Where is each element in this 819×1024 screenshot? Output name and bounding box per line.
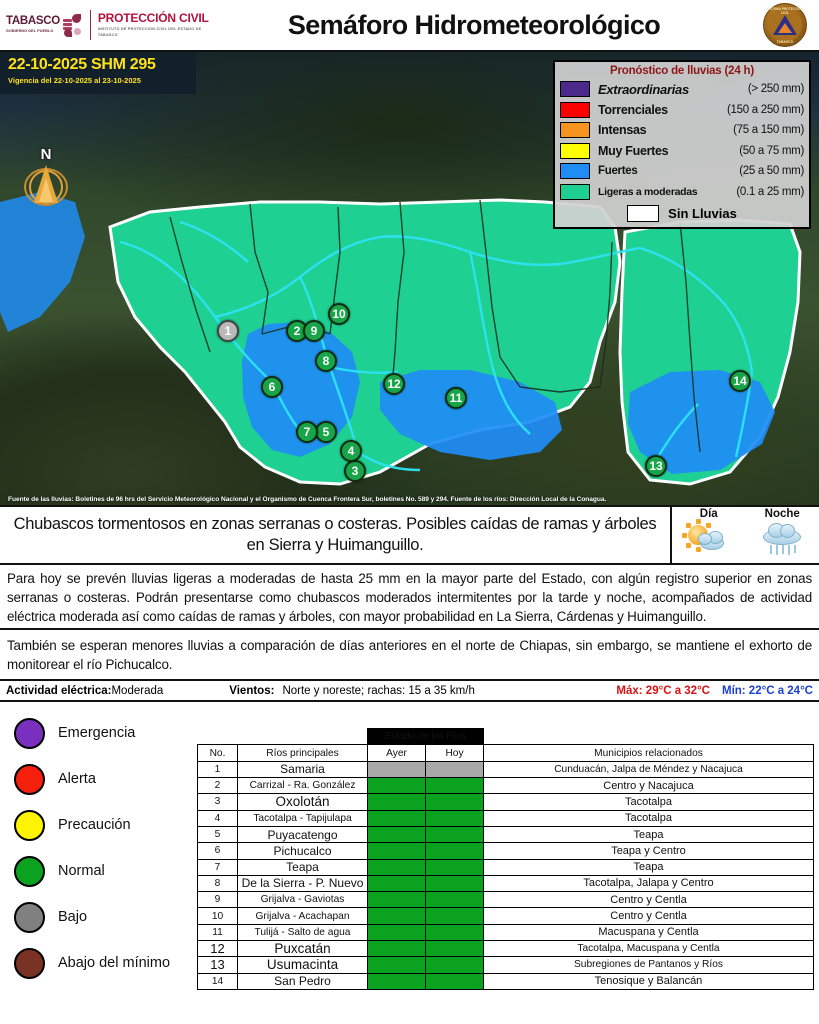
status-legend-item-3: Precaución: [14, 802, 196, 848]
col-header-ayer: Ayer: [368, 745, 426, 761]
map-marker-1[interactable]: 1: [217, 320, 239, 342]
day-label: Día: [700, 508, 718, 520]
cell-status-ayer: [368, 875, 426, 891]
status-dot-5: [14, 902, 45, 933]
night-label: Noche: [765, 508, 800, 520]
cell-status-hoy: [426, 973, 484, 989]
legend-label-4: Muy Fuertes: [590, 144, 712, 158]
cell-status-ayer: [368, 794, 426, 810]
proteccion-civil-logo: PROTECCIÓN CIVIL INSTITUTO DE PROTECCIÓN…: [98, 12, 215, 38]
bulletin-validity: Vigencia del 22-10-2025 al 23-10-2025: [8, 76, 188, 85]
tabasco-wordmark: TABASCO: [6, 16, 60, 28]
day-night-icons: Día Noche: [672, 507, 819, 563]
cell-rio: Grijalva - Acachapan: [238, 908, 368, 924]
cell-municipios: Tacotalpa: [484, 794, 814, 810]
cell-no: 4: [198, 810, 238, 826]
shield-bottom-text: TABASCO: [763, 40, 807, 44]
cell-municipios: Subregiones de Pantanos y Ríos: [484, 957, 814, 973]
legend-row-6: Ligeras a moderadas(0.1 a 25 mm): [560, 182, 804, 203]
status-legend-item-2: Alerta: [14, 756, 196, 802]
spacer-cell-rio: [238, 729, 368, 745]
map-marker-9[interactable]: 9: [303, 320, 325, 342]
status-legend-item-6: Abajo del mínimo: [14, 940, 196, 986]
cell-no: 14: [198, 973, 238, 989]
legend-swatch-1: [560, 81, 590, 97]
legend-swatch-4: [560, 143, 590, 159]
cell-no: 2: [198, 778, 238, 794]
cell-status-ayer: [368, 810, 426, 826]
legend-swatch-5: [560, 163, 590, 179]
legend-row-3: Intensas(75 a 150 mm): [560, 120, 804, 141]
cell-municipios: Tacotalpa: [484, 810, 814, 826]
cell-status-ayer: [368, 859, 426, 875]
bulletin-date: 22-10-2025 SHM 295: [8, 56, 188, 74]
page-header: TABASCO GOBIERNO DEL PUEBLO PROTECCIÓN C…: [0, 0, 819, 52]
proteccion-civil-shield-icon: SISTEMA PROTECCIÓN CIVIL TABASCO: [763, 3, 807, 47]
cell-rio: Pichucalco: [238, 843, 368, 859]
page-title: Semáforo Hidrometeorológico: [215, 10, 763, 41]
table-row: 4Tacotalpa - TapijulapaTacotalpa: [198, 810, 814, 826]
table-row: 6PichucalcoTeapa y Centro: [198, 843, 814, 859]
map-marker-12[interactable]: 12: [383, 373, 405, 395]
legend-swatch-no-rain: [627, 205, 659, 222]
cell-status-ayer: [368, 843, 426, 859]
brand-logos: TABASCO GOBIERNO DEL PUEBLO PROTECCIÓN C…: [0, 2, 215, 48]
map-marker-13[interactable]: 13: [645, 455, 667, 477]
cell-no: 8: [198, 875, 238, 891]
col-header-mun: Municipios relacionados: [484, 745, 814, 761]
cell-status-hoy: [426, 941, 484, 957]
forecast-paragraph-2-box: También se esperan menores lluvias a com…: [0, 630, 819, 681]
map-source-note: Fuente de las lluvias: Boletines de 96 h…: [0, 494, 819, 505]
cell-municipios: Centro y Centla: [484, 908, 814, 924]
tabasco-emblem-icon: [63, 14, 83, 36]
cell-rio: Oxolotán: [238, 794, 368, 810]
bottom-section: EmergenciaAlertaPrecauciónNormalBajoAbaj…: [0, 702, 819, 978]
table-row: 1SamariaCunduacán, Jalpa de Méndez y Nac…: [198, 761, 814, 777]
cell-municipios: Tenosique y Balancán: [484, 973, 814, 989]
status-legend-item-4: Normal: [14, 848, 196, 894]
cloud-rain-icon: [759, 521, 805, 555]
cell-status-hoy: [426, 859, 484, 875]
rainfall-legend: Pronóstico de lluvias (24 h) Extraordina…: [553, 60, 811, 229]
map-date-banner: 22-10-2025 SHM 295 Vigencia del 22-10-20…: [0, 52, 196, 94]
map-marker-10[interactable]: 10: [328, 303, 350, 325]
status-dot-1: [14, 718, 45, 749]
table-row: 5PuyacatengoTeapa: [198, 826, 814, 842]
cell-rio: San Pedro: [238, 973, 368, 989]
map-marker-6[interactable]: 6: [261, 376, 283, 398]
cell-rio: Puyacatengo: [238, 826, 368, 842]
electric-activity-value: Moderada: [111, 685, 163, 697]
map-marker-7[interactable]: 7: [296, 421, 318, 443]
legend-swatch-6: [560, 184, 590, 200]
legend-no-rain-row: Sin Lluvias: [560, 205, 804, 222]
cell-no: 1: [198, 761, 238, 777]
spacer-cell-no: [198, 729, 238, 745]
status-dot-2: [14, 764, 45, 795]
legend-label-no-rain: Sin Lluvias: [668, 206, 737, 221]
legend-range-1: (> 250 mm): [712, 83, 804, 95]
status-dot-4: [14, 856, 45, 887]
table-row: 8De la Sierra - P. NuevoTacotalpa, Jalap…: [198, 875, 814, 891]
electric-activity-label: Actividad eléctrica:: [6, 685, 111, 697]
rainfall-legend-title: Pronóstico de lluvias (24 h): [560, 65, 804, 77]
legend-range-4: (50 a 75 mm): [712, 145, 804, 157]
forecast-paragraph-1-box: Para hoy se prevén lluvias ligeras a mod…: [0, 565, 819, 630]
wind-value: Norte y noreste; rachas: 15 a 35 km/h: [282, 685, 474, 697]
col-header-rio: Ríos principales: [238, 745, 368, 761]
legend-row-4: Muy Fuertes(50 a 75 mm): [560, 141, 804, 162]
cell-no: 9: [198, 892, 238, 908]
legend-range-5: (25 a 50 mm): [712, 165, 804, 177]
min-temperature: Mín: 22°C a 24°C: [722, 685, 813, 697]
cell-municipios: Tacotalpa, Jalapa y Centro: [484, 875, 814, 891]
alert-message: Chubascos tormentosos en zonas serranas …: [0, 507, 672, 563]
table-row: 9Grijalva - GaviotasCentro y Centla: [198, 892, 814, 908]
compass-label: N: [18, 146, 74, 163]
legend-label-3: Intensas: [590, 123, 712, 137]
cell-no: 6: [198, 843, 238, 859]
conditions-summary-bar: Actividad eléctrica: Moderada Vientos: N…: [0, 681, 819, 702]
sun-cloud-icon: [686, 521, 732, 555]
cell-status-hoy: [426, 794, 484, 810]
table-row: 12PuxcatánTacotalpa, Macuspana y Centla: [198, 941, 814, 957]
max-temperature: Máx: 29°C a 32°C: [616, 685, 710, 697]
cell-municipios: Macuspana y Centla: [484, 924, 814, 940]
status-label-1: Emergencia: [58, 725, 135, 741]
status-label-5: Bajo: [58, 909, 87, 925]
legend-range-3: (75 a 150 mm): [712, 124, 804, 136]
cell-status-hoy: [426, 875, 484, 891]
cell-rio: Grijalva - Gaviotas: [238, 892, 368, 908]
legend-label-1: Extraordinarias: [590, 82, 712, 97]
cell-municipios: Centro y Centla: [484, 892, 814, 908]
map-marker-8[interactable]: 8: [315, 350, 337, 372]
map-marker-14[interactable]: 14: [729, 370, 751, 392]
cell-status-hoy: [426, 924, 484, 940]
col-header-no: No.: [198, 745, 238, 761]
cell-status-hoy: [426, 957, 484, 973]
cell-rio: Teapa: [238, 859, 368, 875]
map-marker-3[interactable]: 3: [344, 460, 366, 482]
legend-label-5: Fuertes: [590, 165, 712, 177]
day-forecast: Día: [672, 507, 746, 563]
table-header-row: No. Ríos principales Ayer Hoy Municipios…: [198, 745, 814, 761]
forecast-paragraph-2: También se esperan menores lluvias a com…: [7, 636, 812, 674]
cell-status-ayer: [368, 924, 426, 940]
compass-north-icon: N: [18, 148, 74, 210]
cell-municipios: Teapa: [484, 859, 814, 875]
spacer-cell-mun: [484, 729, 814, 745]
shield-top-text: SISTEMA PROTECCIÓN CIVIL: [763, 7, 807, 15]
cell-status-hoy: [426, 908, 484, 924]
cell-status-ayer: [368, 826, 426, 842]
table-row: 13UsumacintaSubregiones de Pantanos y Rí…: [198, 957, 814, 973]
alert-banner: Chubascos tormentosos en zonas serranas …: [0, 507, 819, 565]
status-label-3: Precaución: [58, 817, 131, 833]
status-label-6: Abajo del mínimo: [58, 955, 170, 971]
cell-municipios: Centro y Nacajuca: [484, 778, 814, 794]
proteccion-civil-wordmark: PROTECCIÓN CIVIL: [98, 12, 215, 24]
cell-no: 5: [198, 826, 238, 842]
status-dot-6: [14, 948, 45, 979]
tabasco-tagline: GOBIERNO DEL PUEBLO: [6, 30, 60, 34]
cell-status-ayer: [368, 941, 426, 957]
table-row: 7TeapaTeapa: [198, 859, 814, 875]
table-row: 3OxolotánTacotalpa: [198, 794, 814, 810]
status-dot-3: [14, 810, 45, 841]
brand-divider: [90, 10, 91, 40]
cell-status-ayer: [368, 778, 426, 794]
tabasco-government-logo: TABASCO GOBIERNO DEL PUEBLO: [6, 14, 83, 36]
cell-municipios: Teapa y Centro: [484, 843, 814, 859]
cell-no: 10: [198, 908, 238, 924]
night-forecast: Noche: [746, 507, 819, 563]
cell-status-ayer: [368, 973, 426, 989]
cell-rio: Puxcatán: [238, 941, 368, 957]
table-row: 11Tulijá - Salto de aguaMacuspana y Cent…: [198, 924, 814, 940]
status-legend-item-1: Emergencia: [14, 710, 196, 756]
legend-row-5: Fuertes(25 a 50 mm): [560, 161, 804, 182]
proteccion-civil-tagline: INSTITUTO DE PROTECCIÓN CIVIL DEL ESTADO…: [98, 27, 215, 38]
cell-status-ayer: [368, 761, 426, 777]
legend-label-2: Torrenciales: [590, 103, 712, 117]
table-group-header-row: Estado de los Ríos: [198, 729, 814, 745]
cell-status-hoy: [426, 778, 484, 794]
cell-status-hoy: [426, 826, 484, 842]
cell-no: 13: [198, 957, 238, 973]
cell-rio: Tacotalpa - Tapijulapa: [238, 810, 368, 826]
cell-status-hoy: [426, 761, 484, 777]
cell-municipios: Cunduacán, Jalpa de Méndez y Nacajuca: [484, 761, 814, 777]
table-row: 10Grijalva - AcachapanCentro y Centla: [198, 908, 814, 924]
legend-swatch-2: [560, 102, 590, 118]
legend-swatch-3: [560, 122, 590, 138]
cell-status-ayer: [368, 892, 426, 908]
rainfall-forecast-map[interactable]: 22-10-2025 SHM 295 Vigencia del 22-10-20…: [0, 52, 819, 507]
legend-row-2: Torrenciales(150 a 250 mm): [560, 100, 804, 121]
cell-no: 11: [198, 924, 238, 940]
cell-municipios: Teapa: [484, 826, 814, 842]
cell-no: 12: [198, 941, 238, 957]
legend-range-2: (150 a 250 mm): [712, 104, 804, 116]
cell-status-hoy: [426, 892, 484, 908]
cell-rio: Carrizal - Ra. González: [238, 778, 368, 794]
cell-status-ayer: [368, 957, 426, 973]
legend-range-6: (0.1 a 25 mm): [712, 186, 804, 198]
cell-no: 7: [198, 859, 238, 875]
cell-status-ayer: [368, 908, 426, 924]
table-row: 2Carrizal - Ra. GonzálezCentro y Nacajuc…: [198, 778, 814, 794]
table-row: 14San PedroTenosique y Balancán: [198, 973, 814, 989]
legend-row-1: Extraordinarias(> 250 mm): [560, 79, 804, 100]
cell-status-hoy: [426, 843, 484, 859]
cell-no: 3: [198, 794, 238, 810]
river-status-legend: EmergenciaAlertaPrecauciónNormalBajoAbaj…: [0, 702, 196, 978]
forecast-paragraph-1: Para hoy se prevén lluvias ligeras a mod…: [7, 569, 812, 626]
rivers-status-table: Estado de los Ríos No. Ríos principales …: [197, 728, 814, 990]
col-header-hoy: Hoy: [426, 745, 484, 761]
map-marker-11[interactable]: 11: [445, 387, 467, 409]
cell-rio: Tulijá - Salto de agua: [238, 924, 368, 940]
map-marker-5[interactable]: 5: [315, 421, 337, 443]
cell-municipios: Tacotalpa, Macuspana y Centla: [484, 941, 814, 957]
status-legend-item-5: Bajo: [14, 894, 196, 940]
wind-label: Vientos:: [229, 685, 274, 697]
cell-status-hoy: [426, 810, 484, 826]
rivers-state-group-header: Estado de los Ríos: [368, 729, 484, 745]
semaforo-hidrometeorologico-page: TABASCO GOBIERNO DEL PUEBLO PROTECCIÓN C…: [0, 0, 819, 1024]
cell-rio: De la Sierra - P. Nuevo: [238, 875, 368, 891]
legend-label-6: Ligeras a moderadas: [590, 186, 712, 198]
cell-rio: Samaria: [238, 761, 368, 777]
status-label-2: Alerta: [58, 771, 96, 787]
map-marker-4[interactable]: 4: [340, 440, 362, 462]
status-label-4: Normal: [58, 863, 105, 879]
cell-rio: Usumacinta: [238, 957, 368, 973]
